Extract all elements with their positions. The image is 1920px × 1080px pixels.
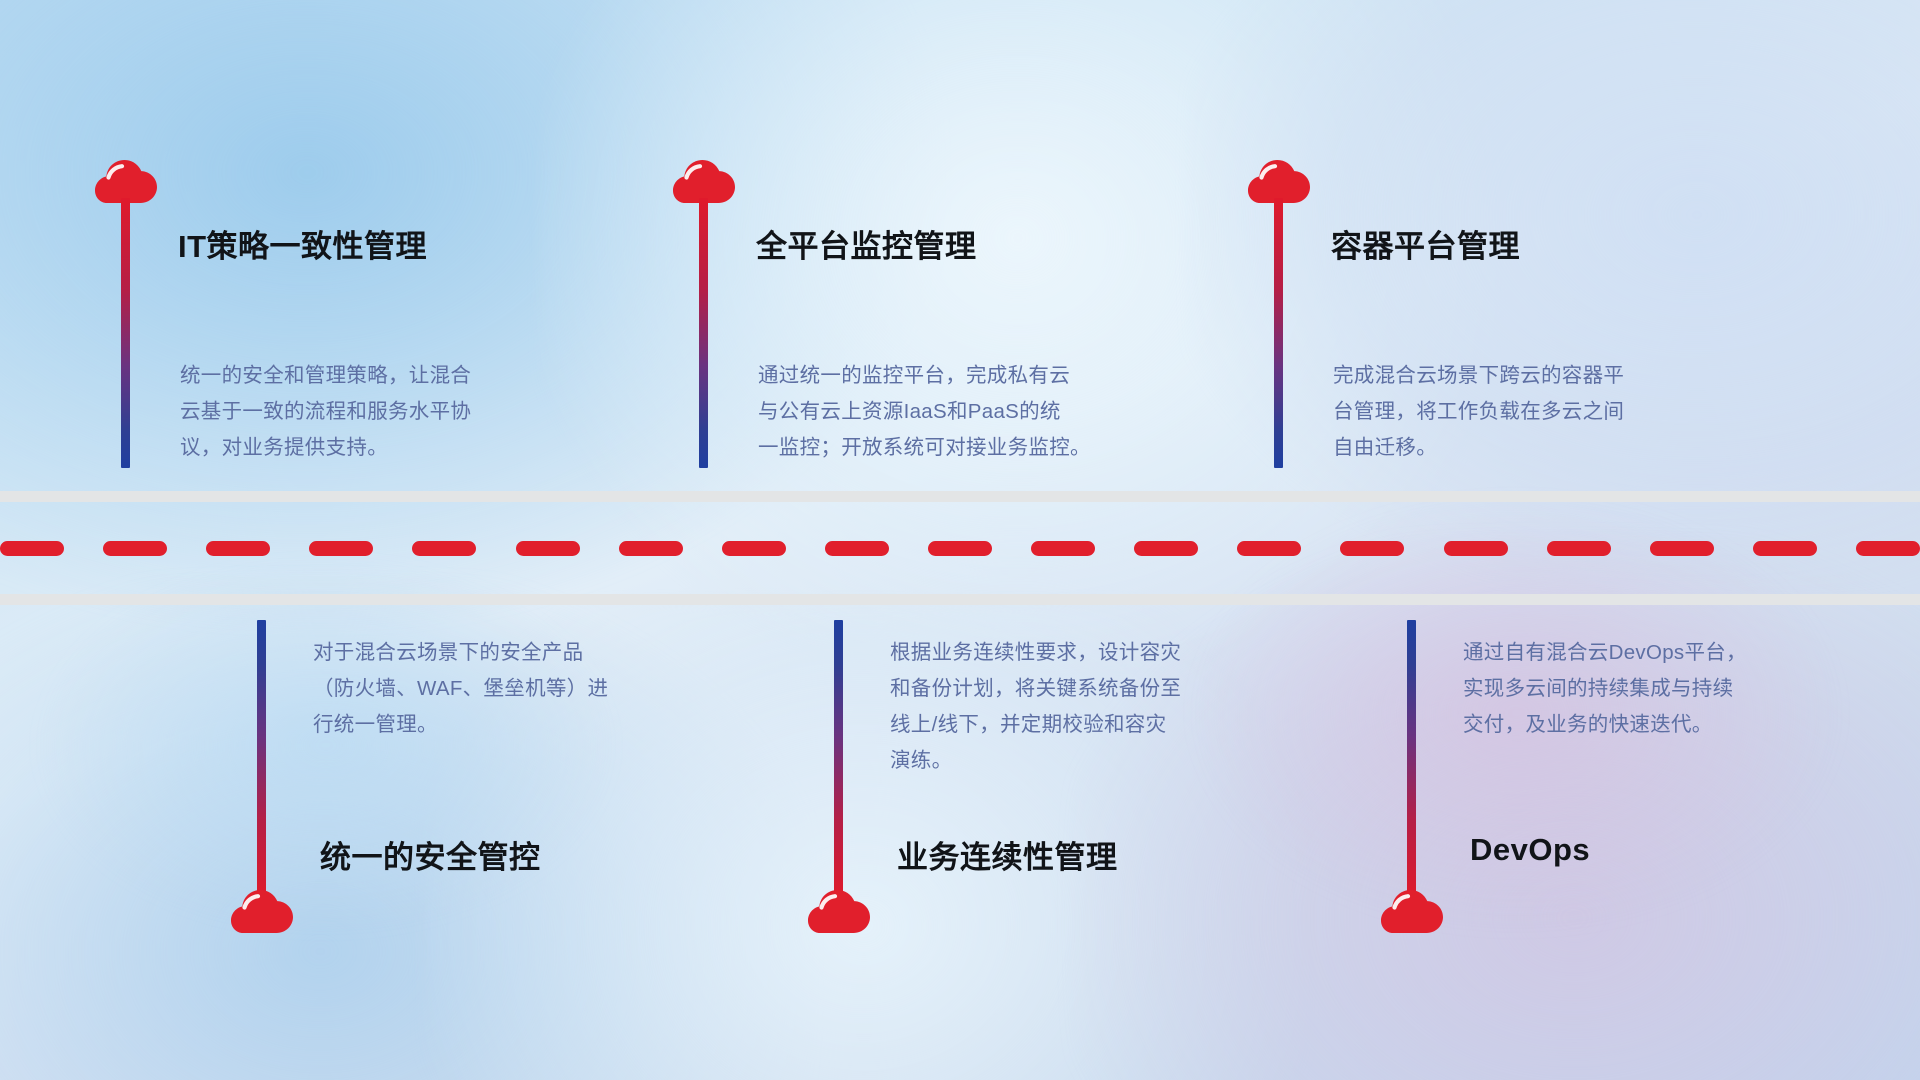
road-dash — [825, 541, 889, 556]
road-dash — [412, 541, 476, 556]
marker-description: 统一的安全和管理策略，让混合 云基于一致的流程和服务水平协 议，对业务提供支持。 — [180, 358, 620, 466]
marker-stem — [257, 620, 266, 898]
marker-title: IT策略一致性管理 — [178, 221, 427, 266]
road-dash — [1856, 541, 1920, 556]
marker-description: 根据业务连续性要求，设计容灾 和备份计划，将关键系统备份至 线上/线下，并定期校… — [890, 635, 1340, 779]
road-dash — [619, 541, 683, 556]
road-dash — [309, 541, 373, 556]
marker-title: DevOps — [1470, 832, 1590, 868]
marker-description: 对于混合云场景下的安全产品 （防火墙、WAF、堡垒机等）进 行统一管理。 — [313, 635, 753, 743]
cloud-icon — [231, 890, 293, 934]
road-dash — [1650, 541, 1714, 556]
road-edge-bottom — [0, 594, 1920, 605]
cloud-icon — [1381, 890, 1443, 934]
marker-stem — [699, 198, 708, 468]
marker-stem — [121, 198, 130, 468]
marker-description: 通过自有混合云DevOps平台， 实现多云间的持续集成与持续 交付，及业务的快速… — [1463, 635, 1903, 743]
road-dash — [722, 541, 786, 556]
marker-stem — [1274, 198, 1283, 468]
cloud-icon — [808, 890, 870, 934]
marker-stem — [1407, 620, 1416, 898]
road-edge-top — [0, 491, 1920, 502]
road-dash — [103, 541, 167, 556]
road-dash — [1134, 541, 1198, 556]
road-dash — [516, 541, 580, 556]
marker-description: 通过统一的监控平台，完成私有云 与公有云上资源IaaS和PaaS的统 一监控；开… — [758, 358, 1218, 466]
road-dash — [1444, 541, 1508, 556]
road-dash — [1031, 541, 1095, 556]
marker-title: 统一的安全管控 — [320, 832, 541, 877]
marker-title: 容器平台管理 — [1331, 221, 1520, 266]
road-dash — [1340, 541, 1404, 556]
road-dash — [1547, 541, 1611, 556]
marker-stem — [834, 620, 843, 898]
road-dash — [1753, 541, 1817, 556]
marker-title: 全平台监控管理 — [756, 221, 977, 266]
infographic-canvas: IT策略一致性管理 统一的安全和管理策略，让混合 云基于一致的流程和服务水平协 … — [0, 0, 1920, 1080]
road-dash — [206, 541, 270, 556]
road-dash — [1237, 541, 1301, 556]
road-dash — [928, 541, 992, 556]
marker-description: 完成混合云场景下跨云的容器平 台管理，将工作负载在多云之间 自由迁移。 — [1333, 358, 1783, 466]
road-center-dashes — [0, 541, 1920, 556]
road-dash — [0, 541, 64, 556]
marker-title: 业务连续性管理 — [897, 832, 1118, 877]
